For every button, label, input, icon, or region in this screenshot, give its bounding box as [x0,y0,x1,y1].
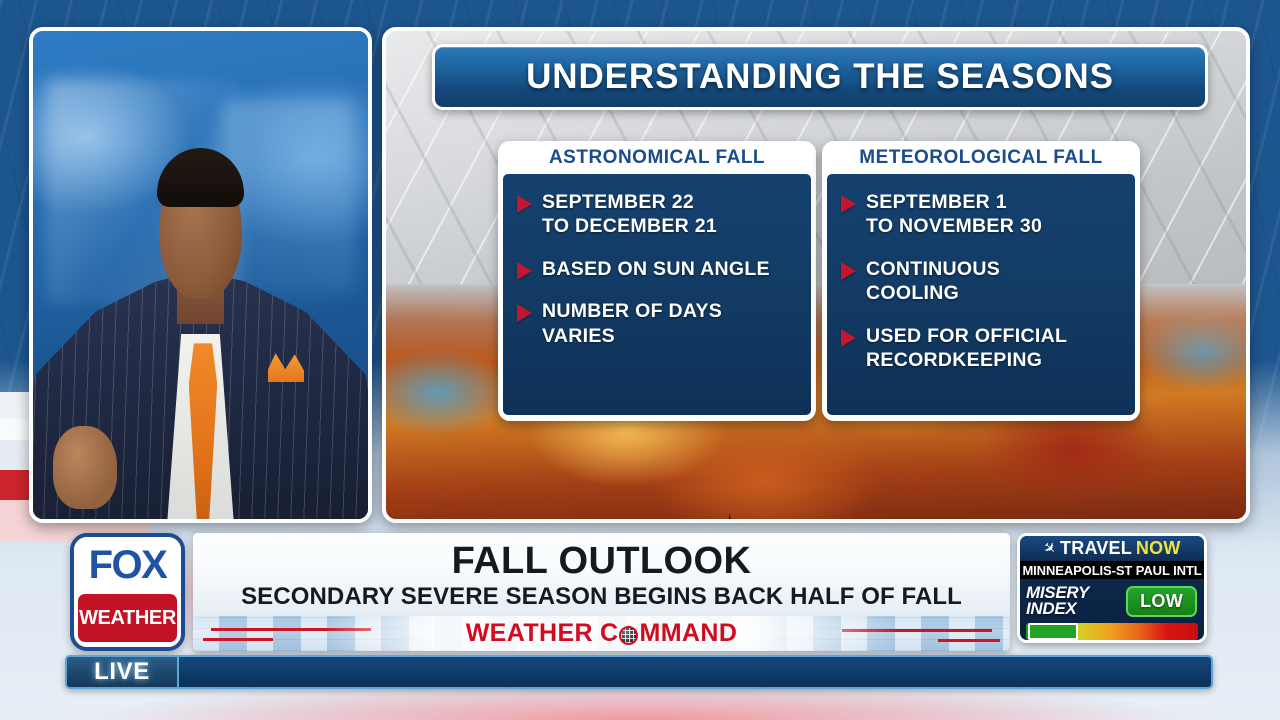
now-label: NOW [1136,538,1181,559]
fox-logo-top: FOX [74,537,181,592]
brand-bar-accent-line [203,638,273,641]
live-badge: LIVE [67,657,179,687]
brand-bar-accent-line [211,628,371,631]
brand-word-weather: WEATHER [466,619,593,648]
triangle-bullet-icon [517,262,532,280]
chyron-headline: FALL OUTLOOK [452,542,752,580]
presenter-video-panel[interactable] [29,27,372,523]
travel-now-widget[interactable]: ✈ TRAVEL NOW MINNEAPOLIS-ST PAUL INTL MI… [1017,533,1207,643]
triangle-bullet-icon [517,195,532,213]
live-ticker-bar[interactable]: LIVE [65,655,1213,689]
bullet-text: NUMBER OF DAYS VARIES [542,299,722,348]
brand-bar-accent-line [938,639,1000,642]
triangle-bullet-icon [841,195,856,213]
bullet-item: BASED ON SUN ANGLE [517,257,801,281]
misery-index-value-badge: LOW [1126,586,1197,617]
misery-index-label: MISERY INDEX [1026,585,1089,617]
ticker-content-area [179,657,1211,687]
bullet-text: SEPTEMBER 22 TO DECEMBER 21 [542,190,717,239]
brand-word-mmand: MMAND [639,619,737,648]
triangle-bullet-icon [841,329,856,347]
anchor-hand [53,426,117,509]
anchor-hair [157,148,244,207]
card-meteorological-fall[interactable]: METEOROLOGICAL FALL SEPTEMBER 1 TO NOVEM… [822,141,1140,421]
bullet-text: BASED ON SUN ANGLE [542,257,770,281]
airplane-icon: ✈ [1040,539,1060,559]
bullet-item: CONTINUOUS COOLING [841,257,1125,306]
bullet-text: CONTINUOUS COOLING [866,257,1000,306]
travel-label: TRAVEL [1060,538,1132,559]
card-body-astronomical: SEPTEMBER 22 TO DECEMBER 21 BASED ON SUN… [503,174,811,415]
weather-command-text: WEATHER C MMAND [466,619,738,648]
bullet-text: USED FOR OFFICIAL RECORDKEEPING [866,324,1067,373]
card-header-meteorological: METEOROLOGICAL FALL [822,141,1140,174]
fox-logo-bottom: WEATHER [78,594,177,642]
chyron-text-block: FALL OUTLOOK SECONDARY SEVERE SEASON BEG… [193,533,1010,616]
bullet-text: SEPTEMBER 1 TO NOVEMBER 30 [866,190,1042,239]
travel-now-header: ✈ TRAVEL NOW [1020,536,1204,561]
fox-wordmark: FOX [89,545,167,585]
globe-icon [619,626,638,645]
lower-third-chyron: FALL OUTLOOK SECONDARY SEVERE SEASON BEG… [193,533,1010,651]
card-header-astronomical: ASTRONOMICAL FALL [498,141,816,174]
live-label: LIVE [94,658,150,686]
fox-weather-logo: FOX WEATHER [70,533,185,651]
bullet-item: SEPTEMBER 22 TO DECEMBER 21 [517,190,801,239]
misery-index-gradient-scale [1026,623,1198,640]
weather-command-brand-bar: WEATHER C MMAND [193,616,1010,651]
bullet-item: NUMBER OF DAYS VARIES [517,299,801,348]
triangle-bullet-icon [841,262,856,280]
anchor-figure [33,31,368,519]
bullet-item: SEPTEMBER 1 TO NOVEMBER 30 [841,190,1125,239]
triangle-bullet-icon [517,304,532,322]
weather-wordmark: WEATHER [79,607,176,630]
misery-index-row: MISERY INDEX LOW [1020,579,1204,623]
misery-index-indicator [1028,623,1078,640]
card-body-meteorological: SEPTEMBER 1 TO NOVEMBER 30 CONTINUOUS CO… [827,174,1135,415]
bullet-item: USED FOR OFFICIAL RECORDKEEPING [841,324,1125,373]
card-title-astronomical: ASTRONOMICAL FALL [549,147,765,169]
graphic-headline-bar: UNDERSTANDING THE SEASONS [432,44,1208,110]
chyron-subheadline: SECONDARY SEVERE SEASON BEGINS BACK HALF… [241,584,962,610]
brand-word-c: C [600,619,618,648]
graphic-headline-text: UNDERSTANDING THE SEASONS [526,57,1114,97]
weather-graphic-panel[interactable]: UNDERSTANDING THE SEASONS ASTRONOMICAL F… [382,27,1250,523]
brand-bar-accent-line [842,629,992,632]
airport-name: MINNEAPOLIS-ST PAUL INTL [1020,561,1204,579]
card-title-meteorological: METEOROLOGICAL FALL [859,147,1102,169]
card-astronomical-fall[interactable]: ASTRONOMICAL FALL SEPTEMBER 22 TO DECEMB… [498,141,816,421]
